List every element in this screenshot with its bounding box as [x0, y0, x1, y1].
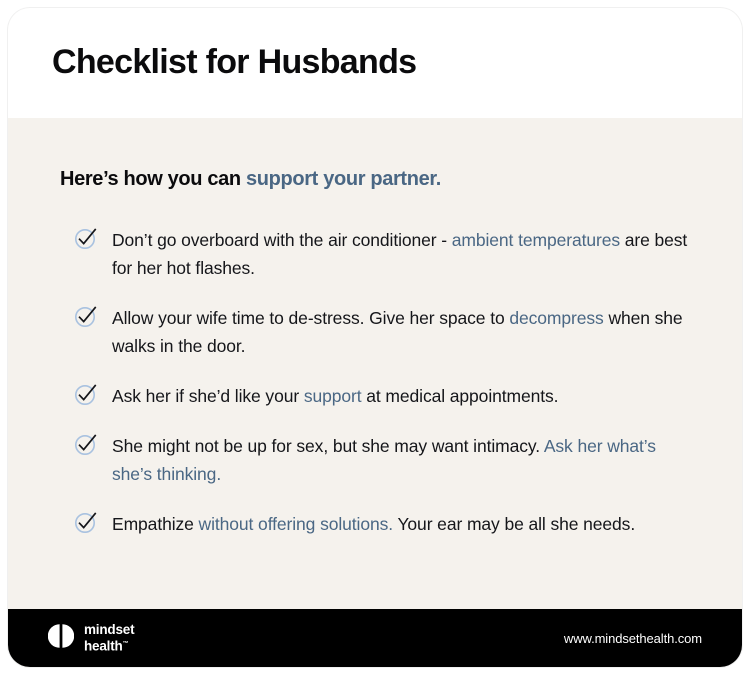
checklist-plain-phrase: Empathize: [112, 514, 199, 534]
website-url: www.mindsethealth.com: [564, 631, 702, 646]
checklist-card: Checklist for Husbands Here’s how you ca…: [8, 8, 742, 667]
checklist-accent-phrase: without offering solutions.: [199, 514, 393, 534]
checklist-item-text: She might not be up for sex, but she may…: [112, 432, 692, 488]
brand-name: mindsethealth™: [84, 623, 134, 654]
intro-accent-text: support your partner.: [246, 168, 441, 190]
page-title: Checklist for Husbands: [52, 44, 416, 81]
checklist: Don’t go overboard with the air conditio…: [60, 226, 698, 538]
intro-line: Here’s how you can support your partner.: [60, 166, 698, 192]
card-footer: mindsethealth™ www.mindsethealth.com: [8, 609, 742, 667]
checklist-plain-phrase: Don’t go overboard with the air conditio…: [112, 230, 452, 250]
checklist-accent-phrase: support: [304, 386, 362, 406]
intro-plain-text: Here’s how you can: [60, 168, 246, 190]
check-circle-icon: [74, 384, 96, 406]
checklist-item-text: Allow your wife time to de-stress. Give …: [112, 304, 692, 360]
checklist-item-text: Ask her if she’d like your support at me…: [112, 382, 558, 410]
checklist-accent-phrase: decompress: [509, 308, 603, 328]
checklist-plain-phrase: Your ear may be all she needs.: [393, 514, 635, 534]
mindset-health-split-circle-logo: [48, 623, 74, 654]
checklist-item: Don’t go overboard with the air conditio…: [60, 226, 698, 282]
checklist-item: Allow your wife time to de-stress. Give …: [60, 304, 698, 360]
brand-line-1: mindset: [84, 622, 134, 637]
check-circle-icon: [74, 512, 96, 534]
brand-line-2: health: [84, 638, 123, 653]
screenshot-stage: Checklist for Husbands Here’s how you ca…: [0, 0, 750, 675]
brand-lockup: mindsethealth™: [48, 623, 134, 654]
check-circle-icon: [74, 306, 96, 328]
checklist-item-text: Empathize without offering solutions. Yo…: [112, 510, 635, 538]
trademark-symbol: ™: [123, 641, 129, 647]
checklist-plain-phrase: She might not be up for sex, but she may…: [112, 436, 544, 456]
checklist-accent-phrase: ambient temperatures: [452, 230, 620, 250]
card-header: Checklist for Husbands: [8, 8, 742, 118]
checklist-item-text: Don’t go overboard with the air conditio…: [112, 226, 692, 282]
checklist-plain-phrase: at medical appointments.: [362, 386, 559, 406]
card-body: Here’s how you can support your partner.…: [8, 118, 742, 609]
checklist-item: She might not be up for sex, but she may…: [60, 432, 698, 488]
check-circle-icon: [74, 434, 96, 456]
check-circle-icon: [74, 228, 96, 250]
checklist-item: Empathize without offering solutions. Yo…: [60, 510, 698, 538]
checklist-item: Ask her if she’d like your support at me…: [60, 382, 698, 410]
checklist-plain-phrase: Allow your wife time to de-stress. Give …: [112, 308, 509, 328]
checklist-plain-phrase: Ask her if she’d like your: [112, 386, 304, 406]
